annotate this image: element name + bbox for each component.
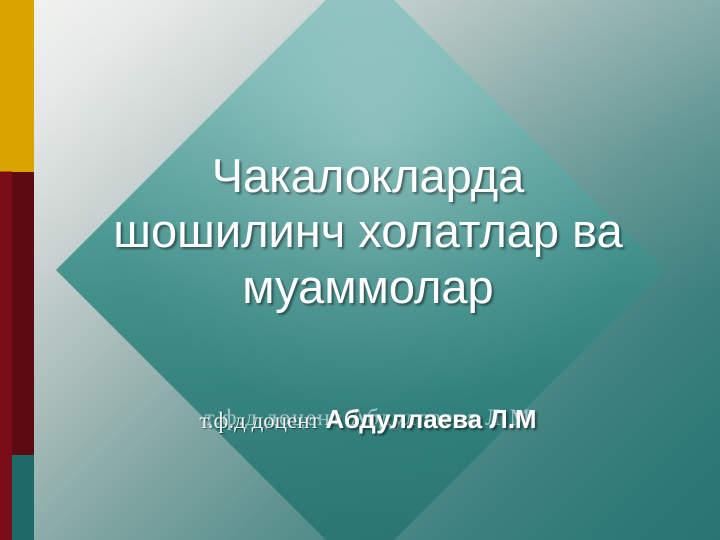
left-edge-strip (0, 0, 12, 540)
presentation-slide: Чакалокларда шошилинч холатлар ва муаммо… (0, 0, 720, 540)
slide-subtitle: т.ф.д доцент Абдуллаева Л.М (38, 405, 698, 435)
slide-title-line-3: муаммолар (38, 259, 698, 314)
subtitle-author-name: Абдуллаева Л.М (325, 404, 536, 434)
slide-title: Чакалокларда шошилинч холатлар ва муаммо… (38, 148, 698, 314)
slide-title-line-1: Чакалокларда (38, 148, 698, 203)
subtitle-title-prefix: т.ф.д доцент (199, 408, 325, 433)
slide-title-line-2: шошилинч холатлар ва (38, 203, 698, 258)
